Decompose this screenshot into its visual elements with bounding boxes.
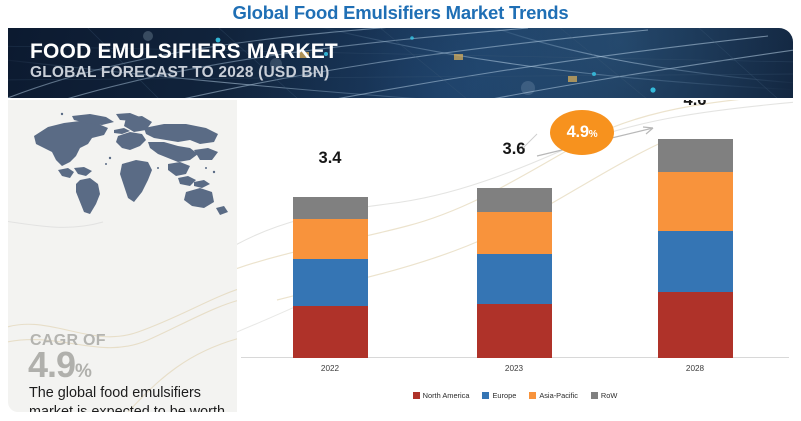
segment-row-2022[interactable] <box>293 197 368 219</box>
segment-asia-pacific-2022[interactable] <box>293 219 368 259</box>
cagr-callout-value: 4.9 <box>567 123 589 141</box>
chart-legend: North America Europe Asia-Pacific RoW <box>237 391 793 400</box>
x-label-2028: 2028 <box>635 364 755 373</box>
segment-europe-2028[interactable] <box>658 231 733 292</box>
banner-title: FOOD EMULSIFIERS MARKET <box>30 41 338 63</box>
infographic-page: Global Food Emulsifiers Market Trends <box>0 0 801 421</box>
bar-2023[interactable] <box>477 188 552 358</box>
segment-row-2028[interactable] <box>658 139 733 172</box>
legend-swatch-europe <box>482 392 489 399</box>
segment-asia-pacific-2028[interactable] <box>658 172 733 231</box>
segment-north-america-2023[interactable] <box>477 304 552 358</box>
bar-2028[interactable] <box>658 139 733 358</box>
bar-2022[interactable] <box>293 197 368 358</box>
header-banner: FOOD EMULSIFIERS MARKET GLOBAL FORECAST … <box>8 28 793 98</box>
legend-label-row: RoW <box>601 391 617 400</box>
bar-total-2028: 4.6 <box>635 100 755 110</box>
cagr-value: 4.9% <box>28 347 92 383</box>
legend-label-europe: Europe <box>492 391 516 400</box>
plot-area: 3.4 2022 3.6 2023 4.6 2028 <box>237 100 793 412</box>
legend-swatch-north-america <box>413 392 420 399</box>
segment-asia-pacific-2023[interactable] <box>477 212 552 254</box>
legend-swatch-row <box>591 392 598 399</box>
x-label-2023: 2023 <box>454 364 574 373</box>
cagr-callout-badge[interactable]: 4.9% <box>550 110 614 155</box>
cagr-percent-sign: % <box>75 361 92 382</box>
x-label-2022: 2022 <box>270 364 390 373</box>
legend-item-asia-pacific[interactable]: Asia-Pacific <box>529 391 578 400</box>
summary-paragraph: The global food emulsifiers market is ex… <box>29 384 229 412</box>
world-map-icon <box>18 108 230 220</box>
bar-total-2022: 3.4 <box>270 149 390 168</box>
cagr-callout-percent: % <box>589 129 598 140</box>
left-info-panel: CAGR OF 4.9% The global food emulsifiers… <box>8 100 237 412</box>
segment-north-america-2028[interactable] <box>658 292 733 358</box>
world-map <box>18 108 230 220</box>
page-title: Global Food Emulsifiers Market Trends <box>0 2 801 24</box>
segment-north-america-2022[interactable] <box>293 306 368 358</box>
legend-label-asia-pacific: Asia-Pacific <box>539 391 578 400</box>
banner-text-block: FOOD EMULSIFIERS MARKET GLOBAL FORECAST … <box>30 41 338 82</box>
stacked-bar-chart: 3.4 2022 3.6 2023 4.6 2028 <box>237 100 793 412</box>
cagr-callout-text: 4.9% <box>567 123 598 142</box>
banner-subtitle: GLOBAL FORECAST TO 2028 (USD BN) <box>30 64 338 82</box>
legend-item-europe[interactable]: Europe <box>482 391 516 400</box>
legend-item-row[interactable]: RoW <box>591 391 617 400</box>
cagr-number: 4.9 <box>28 344 75 385</box>
legend-item-north-america[interactable]: North America <box>413 391 470 400</box>
segment-europe-2022[interactable] <box>293 259 368 306</box>
legend-swatch-asia-pacific <box>529 392 536 399</box>
segment-europe-2023[interactable] <box>477 254 552 304</box>
legend-label-north-america: North America <box>423 391 470 400</box>
segment-row-2023[interactable] <box>477 188 552 212</box>
